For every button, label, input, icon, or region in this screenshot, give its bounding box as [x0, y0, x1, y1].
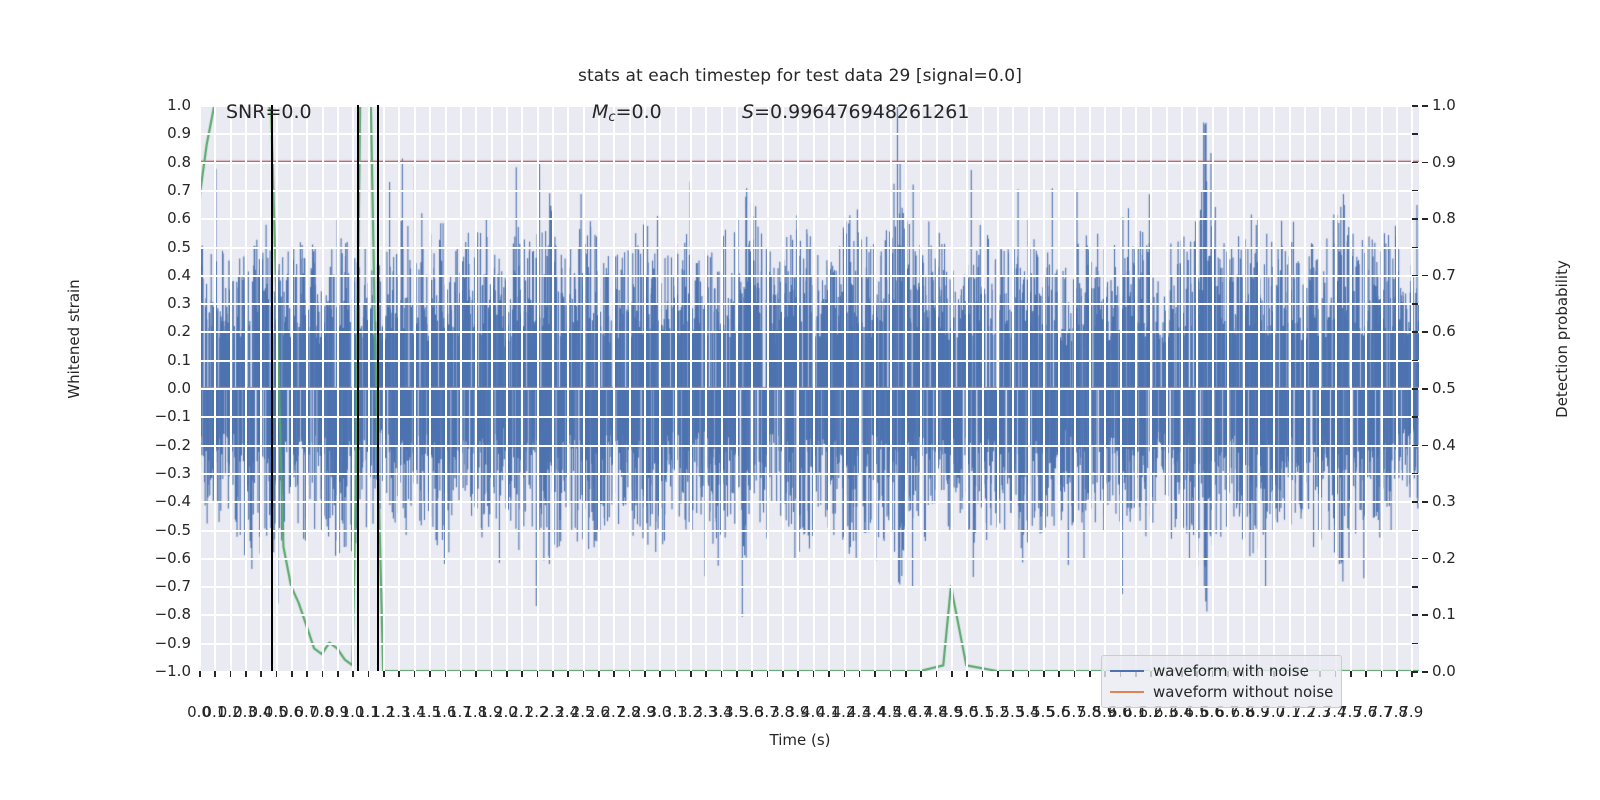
y-tick-label-right: 1.0 [1432, 96, 1456, 114]
x-tick-mark [429, 671, 431, 677]
x-tick-mark [537, 671, 539, 677]
x-tick-mark [890, 671, 892, 677]
x-tick-mark [1089, 671, 1091, 677]
x-tick-mark [398, 671, 400, 677]
y-tick-mark-left [1412, 643, 1418, 645]
x-axis-label: Time (s) [0, 731, 1600, 749]
y-tick-label-left: 0.0 [167, 379, 191, 397]
x-tick-mark [322, 671, 324, 677]
gridline-horizontal [199, 190, 1419, 192]
y-tick-label-left: −0.7 [155, 577, 191, 595]
y-tick-mark-left [1412, 416, 1418, 418]
x-tick-mark [859, 671, 861, 677]
y-tick-mark-left [1412, 445, 1418, 447]
event-marker-line [377, 105, 379, 671]
y-tick-label-left: −0.1 [155, 407, 191, 425]
s-value: =0.996476948261261 [754, 101, 969, 123]
y-tick-label-left: 0.2 [167, 322, 191, 340]
y-tick-mark-left [1412, 105, 1418, 107]
y-tick-mark-right [1422, 162, 1428, 164]
x-tick-mark [491, 671, 493, 677]
x-tick-mark [982, 671, 984, 677]
gridline-horizontal [199, 247, 1419, 249]
x-tick-mark [1396, 671, 1398, 677]
x-tick-mark [613, 671, 615, 677]
y-tick-mark-left [1412, 303, 1418, 305]
x-tick-mark [736, 671, 738, 677]
x-tick-mark [782, 671, 784, 677]
y-tick-label-left: −1.0 [155, 662, 191, 680]
gridline-horizontal [199, 360, 1419, 362]
x-tick-mark [276, 671, 278, 677]
y-tick-mark-right [1422, 388, 1428, 390]
chart-title: stats at each timestep for test data 29 … [0, 66, 1600, 86]
gridline-horizontal [199, 614, 1419, 616]
y-tick-label-right: 0.9 [1432, 153, 1456, 171]
x-tick-mark [920, 671, 922, 677]
matplotlib-figure: stats at each timestep for test data 29 … [0, 0, 1600, 800]
x-tick-mark [797, 671, 799, 677]
s-symbol: S [742, 101, 754, 123]
x-tick-mark [1028, 671, 1030, 677]
y-tick-label-left: 0.8 [167, 153, 191, 171]
x-tick-mark [844, 671, 846, 677]
y-tick-label-right: 0.4 [1432, 436, 1456, 454]
x-tick-mark [659, 671, 661, 677]
y-tick-mark-left [1412, 360, 1418, 362]
y-tick-label-left: −0.8 [155, 605, 191, 623]
x-tick-mark [199, 671, 201, 677]
y-tick-label-left: −0.9 [155, 634, 191, 652]
gridline-horizontal [199, 162, 1419, 164]
y-tick-label-left: 0.7 [167, 181, 191, 199]
x-tick-mark [1012, 671, 1014, 677]
y-tick-mark-left [1412, 558, 1418, 560]
x-tick-mark [245, 671, 247, 677]
y-tick-mark-left [1412, 247, 1418, 249]
x-tick-mark [675, 671, 677, 677]
legend-swatch-clean-icon [1110, 691, 1144, 693]
x-tick-mark [1365, 671, 1367, 677]
gridline-horizontal [199, 643, 1419, 645]
x-tick-label: 7.9 [1399, 703, 1423, 721]
y-tick-mark-right [1422, 275, 1428, 277]
x-tick-mark [552, 671, 554, 677]
x-tick-mark [214, 671, 216, 677]
gridline-horizontal [199, 530, 1419, 532]
x-tick-mark [1381, 671, 1383, 677]
legend-item-clean: waveform without noise [1110, 681, 1333, 702]
x-tick-mark [291, 671, 293, 677]
y-tick-mark-left [1412, 530, 1418, 532]
y-tick-mark-left [1412, 614, 1418, 616]
x-tick-mark [414, 671, 416, 677]
gridline-horizontal [199, 416, 1419, 418]
x-tick-mark [352, 671, 354, 677]
y-tick-mark-right [1422, 331, 1428, 333]
x-tick-mark [751, 671, 753, 677]
legend: waveform with noise waveform without noi… [1101, 655, 1342, 708]
y-tick-label-right: 0.6 [1432, 322, 1456, 340]
x-tick-mark [567, 671, 569, 677]
gridline-horizontal [199, 218, 1419, 220]
x-tick-mark [874, 671, 876, 677]
gridline-horizontal [199, 558, 1419, 560]
x-tick-mark [460, 671, 462, 677]
x-tick-mark [813, 671, 815, 677]
y-tick-mark-left [1412, 190, 1418, 192]
event-marker-line [357, 105, 359, 671]
gridline-horizontal [199, 303, 1419, 305]
x-tick-mark [306, 671, 308, 677]
y-tick-mark-left [1412, 218, 1418, 220]
x-tick-mark [936, 671, 938, 677]
mc-subscript: c [608, 110, 615, 125]
y-tick-label-right: 0.7 [1432, 266, 1456, 284]
gridline-horizontal [199, 445, 1419, 447]
y-tick-label-left: 0.5 [167, 238, 191, 256]
event-marker-line [271, 105, 273, 671]
y-tick-mark-right [1422, 558, 1428, 560]
x-tick-mark [475, 671, 477, 677]
x-tick-mark [905, 671, 907, 677]
x-tick-mark [521, 671, 523, 677]
gridline-horizontal [199, 501, 1419, 503]
x-tick-mark [966, 671, 968, 677]
y-tick-label-left: −0.2 [155, 436, 191, 454]
y-tick-mark-right [1422, 671, 1428, 673]
y-tick-mark-right [1422, 218, 1428, 220]
y-tick-label-left: 0.9 [167, 124, 191, 142]
x-tick-mark [506, 671, 508, 677]
y-tick-label-left: 0.1 [167, 351, 191, 369]
legend-label-noise: waveform with noise [1153, 662, 1309, 680]
x-tick-mark [644, 671, 646, 677]
gridline-horizontal [199, 275, 1419, 277]
y-tick-mark-left [1412, 586, 1418, 588]
y-tick-label-right: 0.3 [1432, 492, 1456, 510]
gridline-horizontal [199, 586, 1419, 588]
x-tick-mark [1058, 671, 1060, 677]
legend-swatch-noise-icon [1110, 670, 1144, 672]
x-tick-mark [445, 671, 447, 677]
x-tick-mark [705, 671, 707, 677]
x-tick-mark [951, 671, 953, 677]
y-tick-mark-left [1412, 275, 1418, 277]
x-tick-mark [997, 671, 999, 677]
annotation-snr: SNR=0.0 [226, 101, 312, 123]
annotation-chirp-mass: Mc=0.0 [592, 101, 662, 125]
y-tick-mark-left [1412, 331, 1418, 333]
x-tick-mark [690, 671, 692, 677]
x-tick-mark [337, 671, 339, 677]
gridline-horizontal [199, 473, 1419, 475]
x-tick-mark [583, 671, 585, 677]
gridline-horizontal [199, 331, 1419, 333]
y-tick-label-right: 0.2 [1432, 549, 1456, 567]
y-tick-mark-left [1412, 473, 1418, 475]
y-tick-label-right: 0.8 [1432, 209, 1456, 227]
annotation-score: S=0.996476948261261 [742, 101, 969, 123]
mc-symbol: M [592, 101, 608, 123]
y-tick-mark-left [1412, 388, 1418, 390]
gridline-horizontal [199, 133, 1419, 135]
x-tick-mark [629, 671, 631, 677]
y-tick-mark-left [1412, 162, 1418, 164]
x-tick-mark [1411, 671, 1413, 677]
y-tick-mark-right [1422, 445, 1428, 447]
legend-label-clean: waveform without noise [1153, 683, 1333, 701]
x-tick-mark [383, 671, 385, 677]
x-tick-mark [1074, 671, 1076, 677]
plot-area [199, 105, 1419, 671]
x-tick-mark [828, 671, 830, 677]
y-tick-label-right: 0.1 [1432, 605, 1456, 623]
x-tick-mark [1350, 671, 1352, 677]
y-tick-label-left: 0.3 [167, 294, 191, 312]
y-axis-left-label: Whitened strain [65, 239, 83, 439]
y-tick-label-left: 0.6 [167, 209, 191, 227]
x-tick-mark [260, 671, 262, 677]
x-tick-mark [598, 671, 600, 677]
y-tick-mark-left [1412, 501, 1418, 503]
y-tick-label-left: −0.5 [155, 521, 191, 539]
y-tick-label-left: −0.6 [155, 549, 191, 567]
mc-value: =0.0 [616, 101, 662, 123]
gridline-horizontal [199, 388, 1419, 390]
y-tick-label-left: 0.4 [167, 266, 191, 284]
y-tick-label-right: 0.0 [1432, 662, 1456, 680]
y-tick-label-left: −0.3 [155, 464, 191, 482]
y-tick-label-left: −0.4 [155, 492, 191, 510]
y-tick-mark-left [1412, 133, 1418, 135]
x-tick-mark [368, 671, 370, 677]
y-tick-mark-right [1422, 501, 1428, 503]
y-tick-mark-right [1422, 105, 1428, 107]
y-tick-label-right: 0.5 [1432, 379, 1456, 397]
y-tick-mark-right [1422, 614, 1428, 616]
legend-item-noise: waveform with noise [1110, 660, 1333, 681]
x-tick-mark [767, 671, 769, 677]
x-tick-mark [721, 671, 723, 677]
x-tick-mark [1043, 671, 1045, 677]
y-axis-right-label: Detection probability [1553, 239, 1571, 439]
y-tick-label-left: 1.0 [167, 96, 191, 114]
x-tick-mark [230, 671, 232, 677]
